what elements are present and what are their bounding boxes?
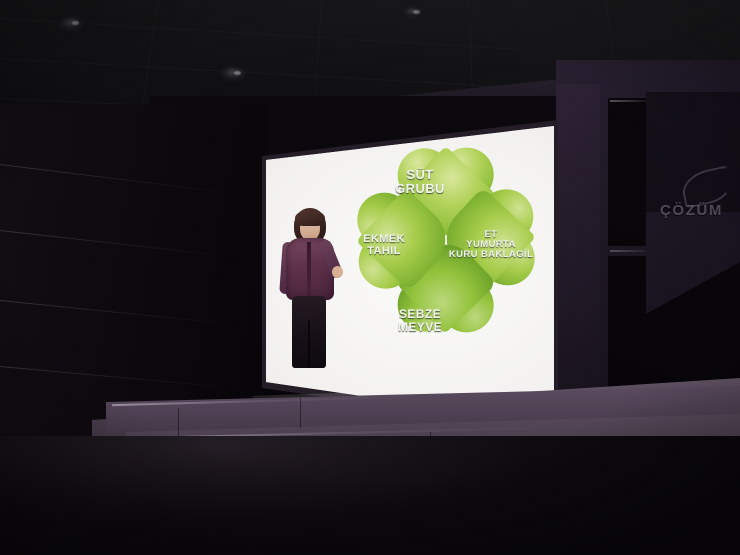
label-line: TAHIL [350, 246, 418, 258]
presenter-trousers [292, 296, 326, 368]
downlight-3 [404, 8, 420, 16]
label-line: KURU BAKLAGİL [438, 250, 544, 260]
label-line: SÜT [374, 168, 466, 182]
presenter-figure [280, 208, 342, 368]
label-ekmek-tahil: EKMEK TAHIL [350, 234, 418, 257]
downlight-1 [60, 18, 82, 29]
label-sebze-meyve: SEBZE MEYVE [374, 308, 466, 333]
label-et-yumurta: ET YUMURTA KURU BAKLAGİL [438, 230, 544, 260]
label-line: SEBZE [374, 308, 466, 321]
wall-logo-text: ÇÖZÜM [660, 202, 723, 219]
presenter-hand [332, 266, 343, 278]
downlight-2 [222, 68, 244, 79]
floor-texture [0, 436, 740, 555]
presenter-fringe [295, 210, 325, 226]
label-line: GRUBU [374, 182, 466, 196]
label-line: EKMEK [350, 234, 418, 246]
left-wall [0, 104, 268, 444]
stage-step-seam-2 [300, 398, 301, 428]
label-line: MEYVE [374, 321, 466, 334]
label-sut-grubu: SÜT GRUBU [374, 168, 466, 196]
wall-logo: ÇÖZÜM [660, 180, 740, 236]
floor [0, 436, 740, 555]
auditorium-photo: ÇÖZÜM [0, 0, 740, 555]
